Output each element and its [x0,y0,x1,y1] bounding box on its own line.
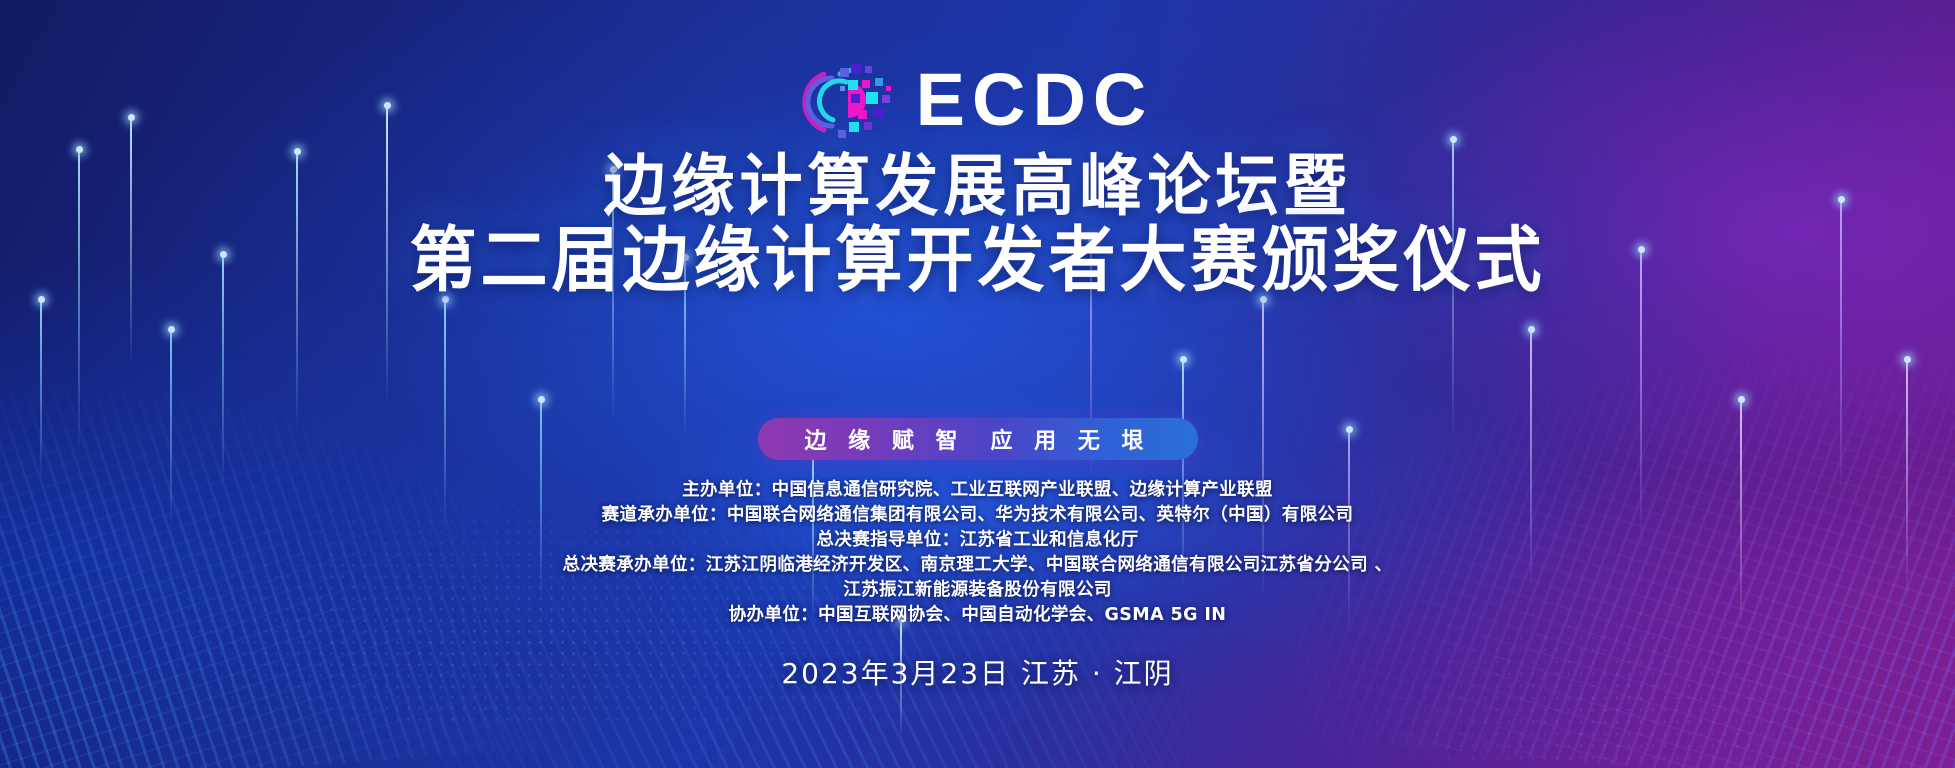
page-title: 边缘计算发展高峰论坛暨 第二届边缘计算开发者大赛颁奖仪式 [0,152,1955,298]
organizer-line: 江苏振江新能源装备股份有限公司 [0,578,1955,603]
ecdc-circular-pixel-logo-icon [802,52,898,148]
ecdc-wordmark: ECDC [916,63,1154,137]
conference-banner: ECDC 边缘计算发展高峰论坛暨 第二届边缘计算开发者大赛颁奖仪式 边 缘 赋 … [0,0,1955,768]
organizer-line: 协办单位：中国互联网协会、中国自动化学会、GSMA 5G IN [0,603,1955,628]
organizer-line: 总决赛承办单位：江苏江阴临港经济开发区、南京理工大学、中国联合网络通信有限公司江… [0,553,1955,578]
organizer-line: 总决赛指导单位：江苏省工业和信息化厅 [0,528,1955,553]
slogan-banner: 边 缘 赋 智 应 用 无 垠 [0,418,1955,460]
title-line-1: 边缘计算发展高峰论坛暨 [0,150,1955,225]
date-location: 2023年3月23日 江苏 · 江阴 [0,652,1955,692]
organizer-line: 主办单位：中国信息通信研究院、工业互联网产业联盟、边缘计算产业联盟 [0,478,1955,503]
slogan-pill: 边 缘 赋 智 应 用 无 垠 [758,418,1198,460]
slogan-right: 应 用 无 垠 [991,423,1151,455]
slogan-left: 边 缘 赋 智 [805,423,965,455]
title-line-2: 第二届边缘计算开发者大赛颁奖仪式 [0,220,1955,300]
organizer-list: 主办单位：中国信息通信研究院、工业互联网产业联盟、边缘计算产业联盟 赛道承办单位… [0,478,1955,628]
logo-row: ECDC [0,52,1955,148]
organizer-line: 赛道承办单位：中国联合网络通信集团有限公司、华为技术有限公司、英特尔（中国）有限… [0,503,1955,528]
